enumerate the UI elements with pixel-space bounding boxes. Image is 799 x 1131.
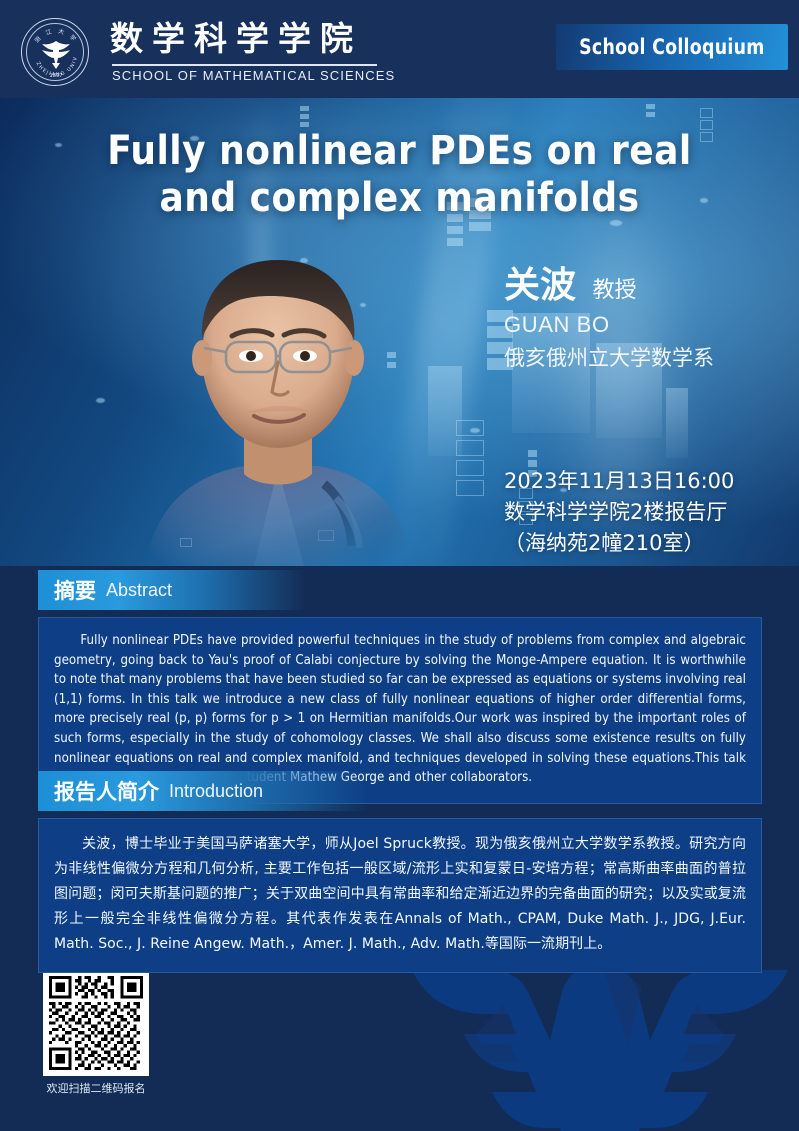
qr-caption: 欢迎扫描二维码报名 [20,1080,172,1096]
event-venue-line2: （海纳苑2幢210室） [504,528,734,559]
tech-block-decor [666,388,688,458]
event-venue-line1: 数学科学学院2楼报告厅 [504,497,734,528]
speaker-name-cn: 关波 [504,266,576,306]
abstract-heading-cn: 摘要 [54,575,96,605]
colloquium-badge-label: School Colloquium [579,35,765,59]
talk-title-line2: and complex manifolds [0,175,799,222]
zju-logo: 1897 ZHEJIANG UNIVERSITY 浙 江 大 学 [18,16,96,86]
school-name-cn: 数学科学学院 [110,20,362,58]
introduction-body: 关波，博士毕业于美国马萨诸塞大学，师从Joel Spruck教授。现为俄亥俄州立… [54,832,746,957]
poster-root: 1897 ZHEJIANG UNIVERSITY 浙 江 大 学 数学科学学院 … [0,0,799,1131]
colloquium-badge: School Colloquium [556,24,788,70]
speaker-affiliation: 俄亥俄州立大学数学系 [504,342,714,372]
seal-phoenix-icon: 1897 ZHEJIANG UNIVERSITY 浙 江 大 学 [22,19,90,87]
abstract-section-header: 摘要 Abstract [38,570,306,610]
speaker-photo [128,216,428,566]
abstract-body: Fully nonlinear PDEs have provided power… [54,631,746,788]
speaker-name-en: GUAN BO [504,312,714,338]
speaker-info: 关波 教授 GUAN BO 俄亥俄州立大学数学系 [504,266,714,372]
speaker-title-cn: 教授 [592,272,636,304]
event-datetime: 2023年11月13日16:00 [504,466,734,497]
header-divider [112,64,377,66]
qr-code-image [49,976,143,1070]
poster-header: 1897 ZHEJIANG UNIVERSITY 浙 江 大 学 数学科学学院 … [0,0,799,98]
phoenix-emblem-icon [400,952,799,1131]
talk-title-line1: Fully nonlinear PDEs on real [107,128,692,174]
event-details: 2023年11月13日16:00 数学科学学院2楼报告厅 （海纳苑2幢210室） [504,466,734,559]
school-name-en: SCHOOL OF MATHEMATICAL SCIENCES [112,68,395,83]
introduction-heading-en: Introduction [169,781,263,802]
introduction-section-header: 报告人简介 Introduction [38,771,368,811]
qr-code[interactable] [43,970,149,1076]
university-seal-icon: 1897 ZHEJIANG UNIVERSITY 浙 江 大 学 [21,18,89,86]
introduction-heading-cn: 报告人简介 [54,776,159,806]
hero-section: Fully nonlinear PDEs on real and complex… [0,98,799,566]
abstract-heading-en: Abstract [106,580,172,601]
introduction-panel: 关波，博士毕业于美国马萨诸塞大学，师从Joel Spruck教授。现为俄亥俄州立… [38,818,762,973]
talk-title: Fully nonlinear PDEs on real and complex… [0,128,799,222]
